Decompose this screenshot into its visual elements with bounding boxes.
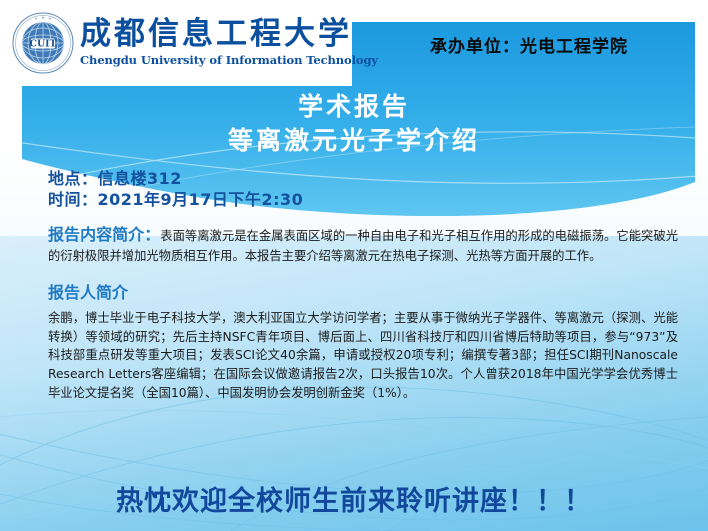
- event-location: 地点：信息楼312: [48, 168, 678, 189]
- event-time: 时间：2021年9月17日下午2:30: [48, 189, 678, 210]
- svg-text:CUIT: CUIT: [30, 39, 57, 50]
- university-name-en: Chengdu University of Information Techno…: [80, 55, 378, 67]
- welcome-message: 热忱欢迎全校师生前来聆听讲座！！！: [0, 479, 708, 518]
- university-name-cn: 成都信息工程大学: [80, 19, 378, 50]
- university-name-block: 成都信息工程大学 Chengdu University of Informati…: [80, 19, 378, 67]
- speaker-bio: 余鹏，博士毕业于电子科技大学，澳大利亚国立大学访问学者；主要从事于微纳光子学器件…: [48, 309, 678, 402]
- poster-content: 地点：信息楼312 时间：2021年9月17日下午2:30 报告内容简介：表面等…: [48, 168, 678, 415]
- seminar-poster: CUIT 成都信息工程大学 Chengdu University of Info…: [0, 0, 708, 531]
- speaker-heading: 报告人简介: [48, 279, 678, 303]
- abstract-block: 报告内容简介：表面等离激元是在金属表面区域的一种自由电子和光子相互作用的形成的电…: [48, 223, 678, 265]
- university-logo-block: CUIT 成都信息工程大学 Chengdu University of Info…: [0, 0, 352, 86]
- organizer-label: 承办单位：光电工程学院: [430, 32, 628, 57]
- poster-title-secondary: 等离激元光子学介绍: [0, 126, 708, 156]
- poster-title-primary: 学术报告: [0, 92, 708, 122]
- poster-title-block: 学术报告 等离激元光子学介绍: [0, 92, 708, 155]
- abstract-paragraph: 报告内容简介：表面等离激元是在金属表面区域的一种自由电子和光子相互作用的形成的电…: [48, 223, 678, 265]
- abstract-heading: 报告内容简介：: [48, 225, 160, 244]
- cuit-globe-emblem-icon: CUIT: [12, 12, 74, 74]
